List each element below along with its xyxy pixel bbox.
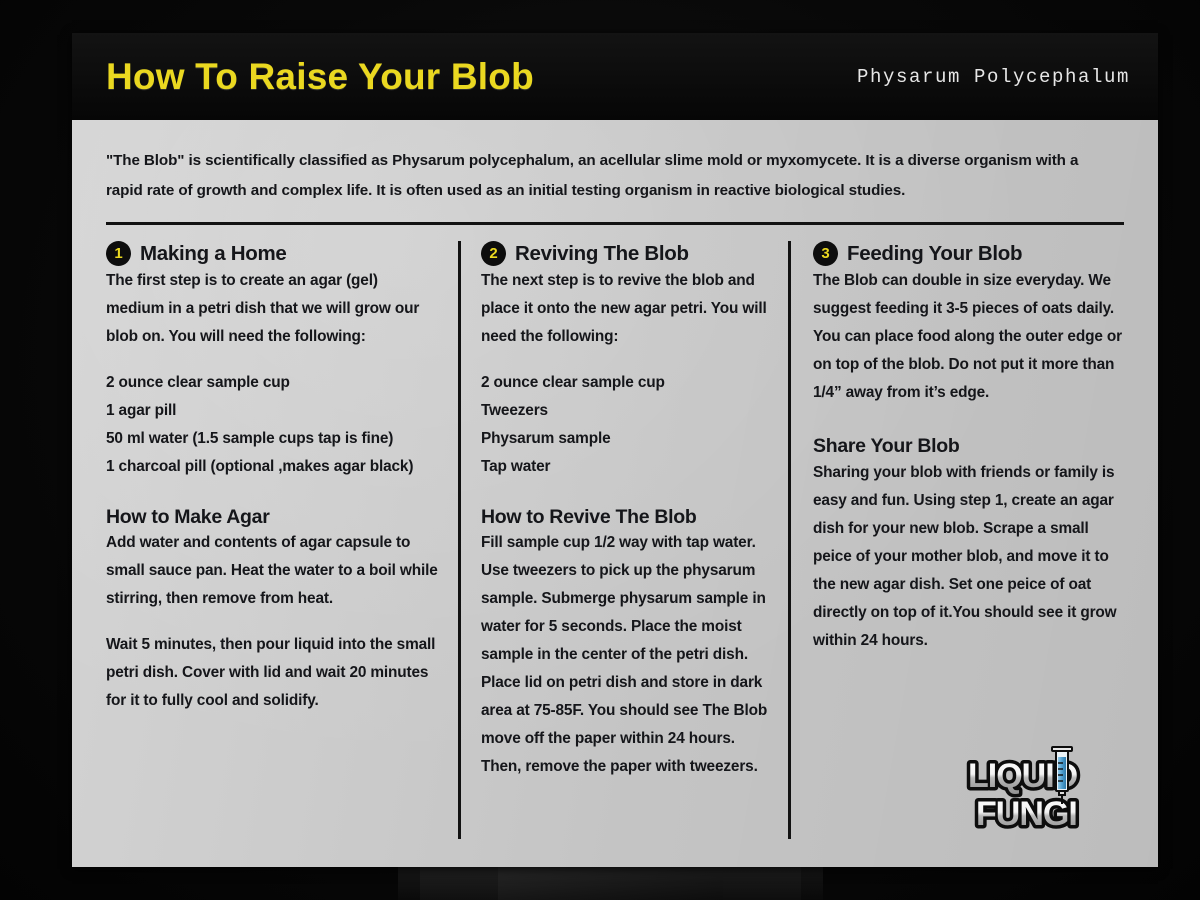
stand-piece-main	[498, 862, 723, 900]
step-column-1: 1 Making a Home The first step is to cre…	[106, 241, 458, 841]
step-intro-3: The Blob can double in size everyday. We…	[813, 267, 1124, 407]
list-item: 2 ounce clear sample cup	[481, 369, 772, 397]
list-item: Physarum sample	[481, 425, 772, 453]
materials-list-1: 2 ounce clear sample cup 1 agar pill 50 …	[106, 369, 440, 481]
horizontal-rule	[106, 222, 1124, 225]
list-item: Tap water	[481, 453, 772, 481]
step-column-2: 2 Reviving The Blob The next step is to …	[458, 241, 788, 841]
page-title: How To Raise Your Blob	[106, 58, 534, 95]
step-intro-2: The next step is to revive the blob and …	[481, 267, 772, 351]
stand-piece-right	[801, 862, 823, 900]
stand-piece-left	[398, 862, 420, 900]
list-item: 1 agar pill	[106, 397, 440, 425]
intro-paragraph: "The Blob" is scientifically classified …	[106, 146, 1124, 205]
step-header-3: 3 Feeding Your Blob	[813, 241, 1124, 266]
step-number-badge-2: 2	[481, 241, 506, 266]
species-name: Physarum Polycephalum	[857, 66, 1130, 88]
step-title-1: Making a Home	[140, 243, 286, 266]
list-item: Tweezers	[481, 397, 772, 425]
stand-piece-mid-left	[420, 862, 498, 900]
step-number-badge-3: 3	[813, 241, 838, 266]
list-item: 2 ounce clear sample cup	[106, 369, 440, 397]
step-intro-1: The first step is to create an agar (gel…	[106, 267, 440, 351]
step-number-badge-1: 1	[106, 241, 131, 266]
list-item: 1 charcoal pill (optional ,makes agar bl…	[106, 453, 440, 481]
step-title-3: Feeding Your Blob	[847, 243, 1022, 266]
section-paragraph-1a: Add water and contents of agar capsule t…	[106, 529, 440, 613]
section-paragraph-2a: Fill sample cup 1/2 way with tap water. …	[481, 529, 772, 781]
list-item: 50 ml water (1.5 sample cups tap is fine…	[106, 425, 440, 453]
section-heading-3: Share Your Blob	[813, 435, 1124, 457]
stand-piece-mid-right	[723, 862, 801, 900]
section-heading-1: How to Make Agar	[106, 506, 440, 528]
brand-logo: LIQUID LIQUID FUNGI FUNGI	[960, 743, 1110, 835]
card-header-band: How To Raise Your Blob Physarum Polyceph…	[72, 33, 1158, 120]
materials-list-2: 2 ounce clear sample cup Tweezers Physar…	[481, 369, 772, 481]
section-paragraph-3a: Sharing your blob with friends or family…	[813, 459, 1124, 655]
step-header-1: 1 Making a Home	[106, 241, 440, 266]
instruction-card: How To Raise Your Blob Physarum Polyceph…	[72, 33, 1158, 867]
section-heading-2: How to Revive The Blob	[481, 506, 772, 528]
step-title-2: Reviving The Blob	[515, 243, 689, 266]
card-body: "The Blob" is scientifically classified …	[72, 120, 1158, 841]
step-header-2: 2 Reviving The Blob	[481, 241, 772, 266]
section-paragraph-1b: Wait 5 minutes, then pour liquid into th…	[106, 631, 440, 715]
